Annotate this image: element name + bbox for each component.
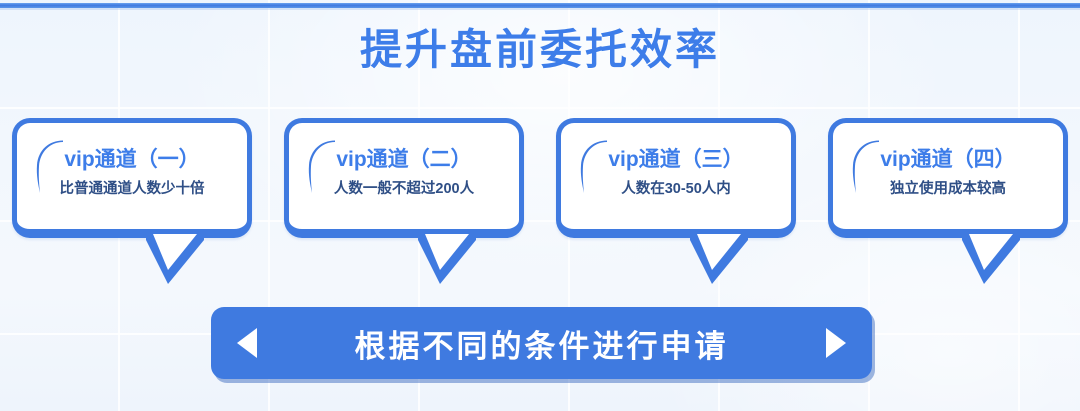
bubble-content: vip通道（二） 人数一般不超过200人 [289,123,519,229]
bubble-body: vip通道（四） 独立使用成本较高 [828,118,1068,238]
bubble-title: vip通道（四） [880,148,1015,171]
bubble-card-3[interactable]: vip通道（三） 人数在30-50人内 [556,118,796,293]
bubble-tail [146,234,204,290]
prev-arrow-icon[interactable] [237,328,257,358]
bubble-card-2[interactable]: vip通道（二） 人数一般不超过200人 [284,118,524,293]
bubble-title: vip通道（三） [608,148,743,171]
bubble-tail [418,234,476,290]
bubble-title: vip通道（二） [336,148,471,171]
infographic-canvas: 提升盘前委托效率 vip通道（一） 比普通通道人数少十倍 [0,0,1080,411]
bubble-description: 人数在30-50人内 [621,180,731,200]
bubble-title: vip通道（一） [64,148,199,171]
bubble-description: 人数一般不超过200人 [334,180,474,200]
banner-text: 根据不同的条件进行申请 [257,321,826,366]
bubble-card-1[interactable]: vip通道（一） 比普通通道人数少十倍 [12,118,252,293]
bubble-row: vip通道（一） 比普通通道人数少十倍 vip通道（二） 人数一般不超过200人 [12,118,1068,293]
bubble-tail [690,234,748,290]
bubble-card-4[interactable]: vip通道（四） 独立使用成本较高 [828,118,1068,293]
page-title: 提升盘前委托效率 [0,16,1080,77]
bubble-content: vip通道（一） 比普通通道人数少十倍 [17,123,247,229]
next-arrow-icon[interactable] [826,328,846,358]
top-rule-shadow [0,8,1080,10]
bubble-body: vip通道（三） 人数在30-50人内 [556,118,796,238]
bubble-description: 独立使用成本较高 [890,180,1006,200]
apply-banner[interactable]: 根据不同的条件进行申请 [211,307,872,379]
bubble-body: vip通道（一） 比普通通道人数少十倍 [12,118,252,238]
bubble-description: 比普通通道人数少十倍 [60,180,205,200]
bubble-content: vip通道（三） 人数在30-50人内 [561,123,791,229]
bubble-content: vip通道（四） 独立使用成本较高 [833,123,1063,229]
bubble-body: vip通道（二） 人数一般不超过200人 [284,118,524,238]
bubble-tail [962,234,1020,290]
